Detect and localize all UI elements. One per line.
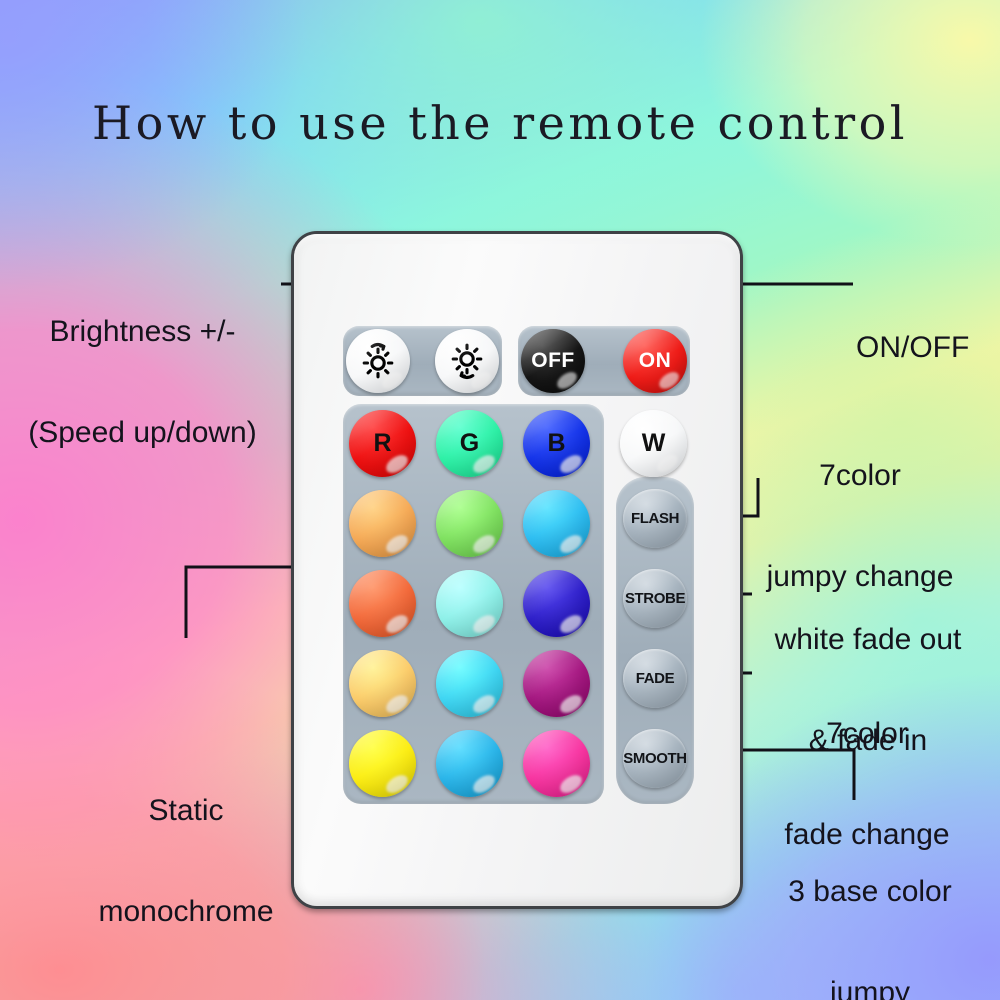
color-button-grid: RGB bbox=[343, 404, 604, 804]
annotation-static-line2: monochrome bbox=[56, 895, 316, 929]
color-button-r5c3[interactable] bbox=[523, 730, 590, 797]
color-button-label: B bbox=[547, 429, 565, 458]
color-button-cell bbox=[523, 650, 590, 717]
color-button-cell bbox=[436, 570, 503, 637]
strobe-button-label: STROBE bbox=[625, 590, 685, 607]
color-button-r5c2[interactable] bbox=[436, 730, 503, 797]
brightness-up-button[interactable] bbox=[346, 329, 410, 393]
annotation-flash-line1: 7color bbox=[744, 459, 976, 493]
color-button-b[interactable]: B bbox=[523, 410, 590, 477]
color-button-label: R bbox=[373, 429, 391, 458]
white-color-button-label: W bbox=[642, 429, 666, 458]
white-color-button[interactable]: W bbox=[620, 410, 687, 477]
annotation-static-line3: mode bbox=[56, 996, 316, 1000]
smooth-button-label: SMOOTH bbox=[623, 750, 686, 767]
fade-button[interactable]: FADE bbox=[623, 649, 687, 708]
background-stage: How to use the remote control Brightness… bbox=[0, 0, 1000, 1000]
color-button-cell bbox=[349, 490, 416, 557]
color-button-r4c2[interactable] bbox=[436, 650, 503, 717]
color-button-r4c3[interactable] bbox=[523, 650, 590, 717]
color-button-cell bbox=[523, 490, 590, 557]
annotation-smooth-line1: 3 base color bbox=[752, 875, 988, 909]
annotation-fade-line1: 7color bbox=[748, 717, 986, 751]
color-button-g[interactable]: G bbox=[436, 410, 503, 477]
color-button-cell bbox=[349, 730, 416, 797]
color-button-cell bbox=[436, 730, 503, 797]
off-button-label: OFF bbox=[531, 349, 575, 373]
annotation-static-mode: Static monochrome mode bbox=[56, 608, 316, 1000]
annotation-brightness-line1: Brightness +/- bbox=[0, 315, 285, 349]
annotation-onoff-line1: ON/OFF bbox=[856, 331, 969, 365]
color-button-r3c2[interactable] bbox=[436, 570, 503, 637]
on-button-label: ON bbox=[639, 349, 672, 373]
color-button-cell: G bbox=[436, 410, 503, 477]
brightness-down-button[interactable] bbox=[435, 329, 499, 393]
flash-button-label: FLASH bbox=[631, 510, 679, 527]
page-title: How to use the remote control bbox=[0, 96, 1000, 150]
color-button-label: G bbox=[460, 429, 479, 458]
color-button-r4c1[interactable] bbox=[349, 650, 416, 717]
color-button-cell bbox=[436, 650, 503, 717]
color-button-r3c3[interactable] bbox=[523, 570, 590, 637]
annotation-brightness: Brightness +/- (Speed up/down) bbox=[0, 248, 285, 517]
color-button-cell bbox=[436, 490, 503, 557]
off-button[interactable]: OFF bbox=[521, 329, 585, 393]
color-button-r2c1[interactable] bbox=[349, 490, 416, 557]
strobe-button[interactable]: STROBE bbox=[623, 569, 687, 628]
power-button-pad: OFF ON bbox=[518, 326, 690, 396]
on-button[interactable]: ON bbox=[623, 329, 687, 393]
flash-button[interactable]: FLASH bbox=[623, 489, 687, 548]
color-button-r3c1[interactable] bbox=[349, 570, 416, 637]
color-button-r[interactable]: R bbox=[349, 410, 416, 477]
annotation-smooth-line2: jumpy bbox=[752, 976, 988, 1000]
color-button-r2c3[interactable] bbox=[523, 490, 590, 557]
sun-up-icon bbox=[358, 341, 398, 381]
sun-down-icon bbox=[447, 341, 487, 381]
color-button-cell: R bbox=[349, 410, 416, 477]
remote-control-body: OFF ON FLASH STROBE FADE SMOOTH W bbox=[291, 231, 743, 909]
color-button-cell bbox=[349, 650, 416, 717]
color-button-r2c2[interactable] bbox=[436, 490, 503, 557]
color-button-cell bbox=[523, 730, 590, 797]
fade-button-label: FADE bbox=[636, 670, 674, 687]
annotation-brightness-line2: (Speed up/down) bbox=[0, 416, 285, 450]
color-button-cell bbox=[523, 570, 590, 637]
color-button-r5c1[interactable] bbox=[349, 730, 416, 797]
annotation-smooth: 3 base color jumpy bbox=[752, 808, 988, 1000]
color-button-cell: B bbox=[523, 410, 590, 477]
annotation-static-line1: Static bbox=[56, 794, 316, 828]
smooth-button[interactable]: SMOOTH bbox=[623, 729, 687, 788]
mode-button-pad: FLASH STROBE FADE SMOOTH bbox=[616, 477, 694, 804]
color-button-cell bbox=[349, 570, 416, 637]
brightness-button-pad bbox=[343, 326, 502, 396]
